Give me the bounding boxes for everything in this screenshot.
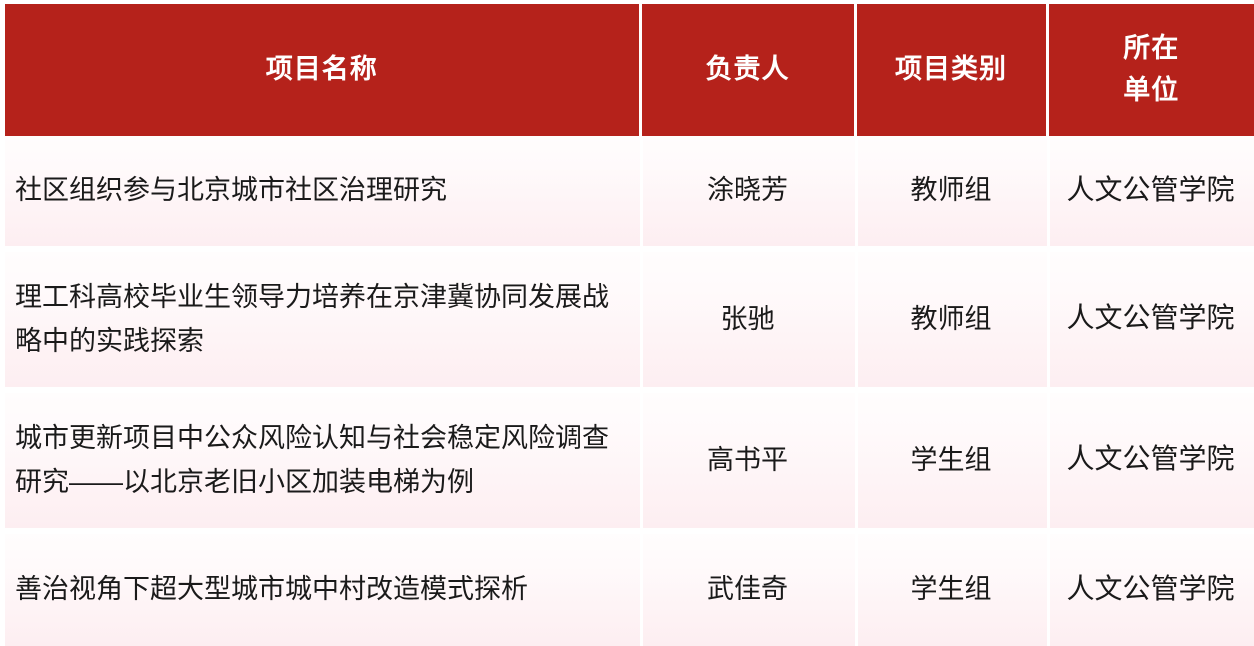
cell-leader: 涂晓芳 <box>640 136 855 246</box>
cell-category: 教师组 <box>855 252 1047 387</box>
cell-unit: 人文公管学院 <box>1047 393 1254 528</box>
cell-category: 教师组 <box>855 136 1047 246</box>
cell-category: 学生组 <box>855 393 1047 528</box>
cell-leader: 高书平 <box>640 393 855 528</box>
column-header-leader: 负责人 <box>640 4 855 136</box>
table-row[interactable]: 善治视角下超大型城市城中村改造模式探析 武佳奇 学生组 人文公管学院 <box>5 534 1254 646</box>
column-header-unit-line2: 单位 <box>1055 70 1249 112</box>
project-list-table: 项目名称 负责人 项目类别 所在 单位 社区组织参与北京城市社区治理研究 涂晓芳… <box>5 4 1254 646</box>
table-row[interactable]: 理工科高校毕业生领导力培养在京津冀协同发展战略中的实践探索 张驰 教师组 人文公… <box>5 252 1254 387</box>
table-header: 项目名称 负责人 项目类别 所在 单位 <box>5 4 1254 136</box>
column-header-project-name: 项目名称 <box>5 4 640 136</box>
cell-leader: 武佳奇 <box>640 534 855 646</box>
cell-project-name: 社区组织参与北京城市社区治理研究 <box>5 136 640 246</box>
cell-unit: 人文公管学院 <box>1047 534 1254 646</box>
table-row[interactable]: 城市更新项目中公众风险认知与社会稳定风险调查研究——以北京老旧小区加装电梯为例 … <box>5 393 1254 528</box>
cell-project-name: 城市更新项目中公众风险认知与社会稳定风险调查研究——以北京老旧小区加装电梯为例 <box>5 393 640 528</box>
cell-project-name: 善治视角下超大型城市城中村改造模式探析 <box>5 534 640 646</box>
column-header-unit: 所在 单位 <box>1047 4 1254 136</box>
column-header-category: 项目类别 <box>855 4 1047 136</box>
cell-category: 学生组 <box>855 534 1047 646</box>
table-body: 社区组织参与北京城市社区治理研究 涂晓芳 教师组 人文公管学院 理工科高校毕业生… <box>5 136 1254 646</box>
column-header-unit-line1: 所在 <box>1055 28 1249 70</box>
cell-project-name: 理工科高校毕业生领导力培养在京津冀协同发展战略中的实践探索 <box>5 252 640 387</box>
cell-unit: 人文公管学院 <box>1047 252 1254 387</box>
table-container: 项目名称 负责人 项目类别 所在 单位 社区组织参与北京城市社区治理研究 涂晓芳… <box>0 0 1254 634</box>
table-row[interactable]: 社区组织参与北京城市社区治理研究 涂晓芳 教师组 人文公管学院 <box>5 136 1254 246</box>
header-row: 项目名称 负责人 项目类别 所在 单位 <box>5 4 1254 136</box>
cell-unit: 人文公管学院 <box>1047 136 1254 246</box>
cell-leader: 张驰 <box>640 252 855 387</box>
